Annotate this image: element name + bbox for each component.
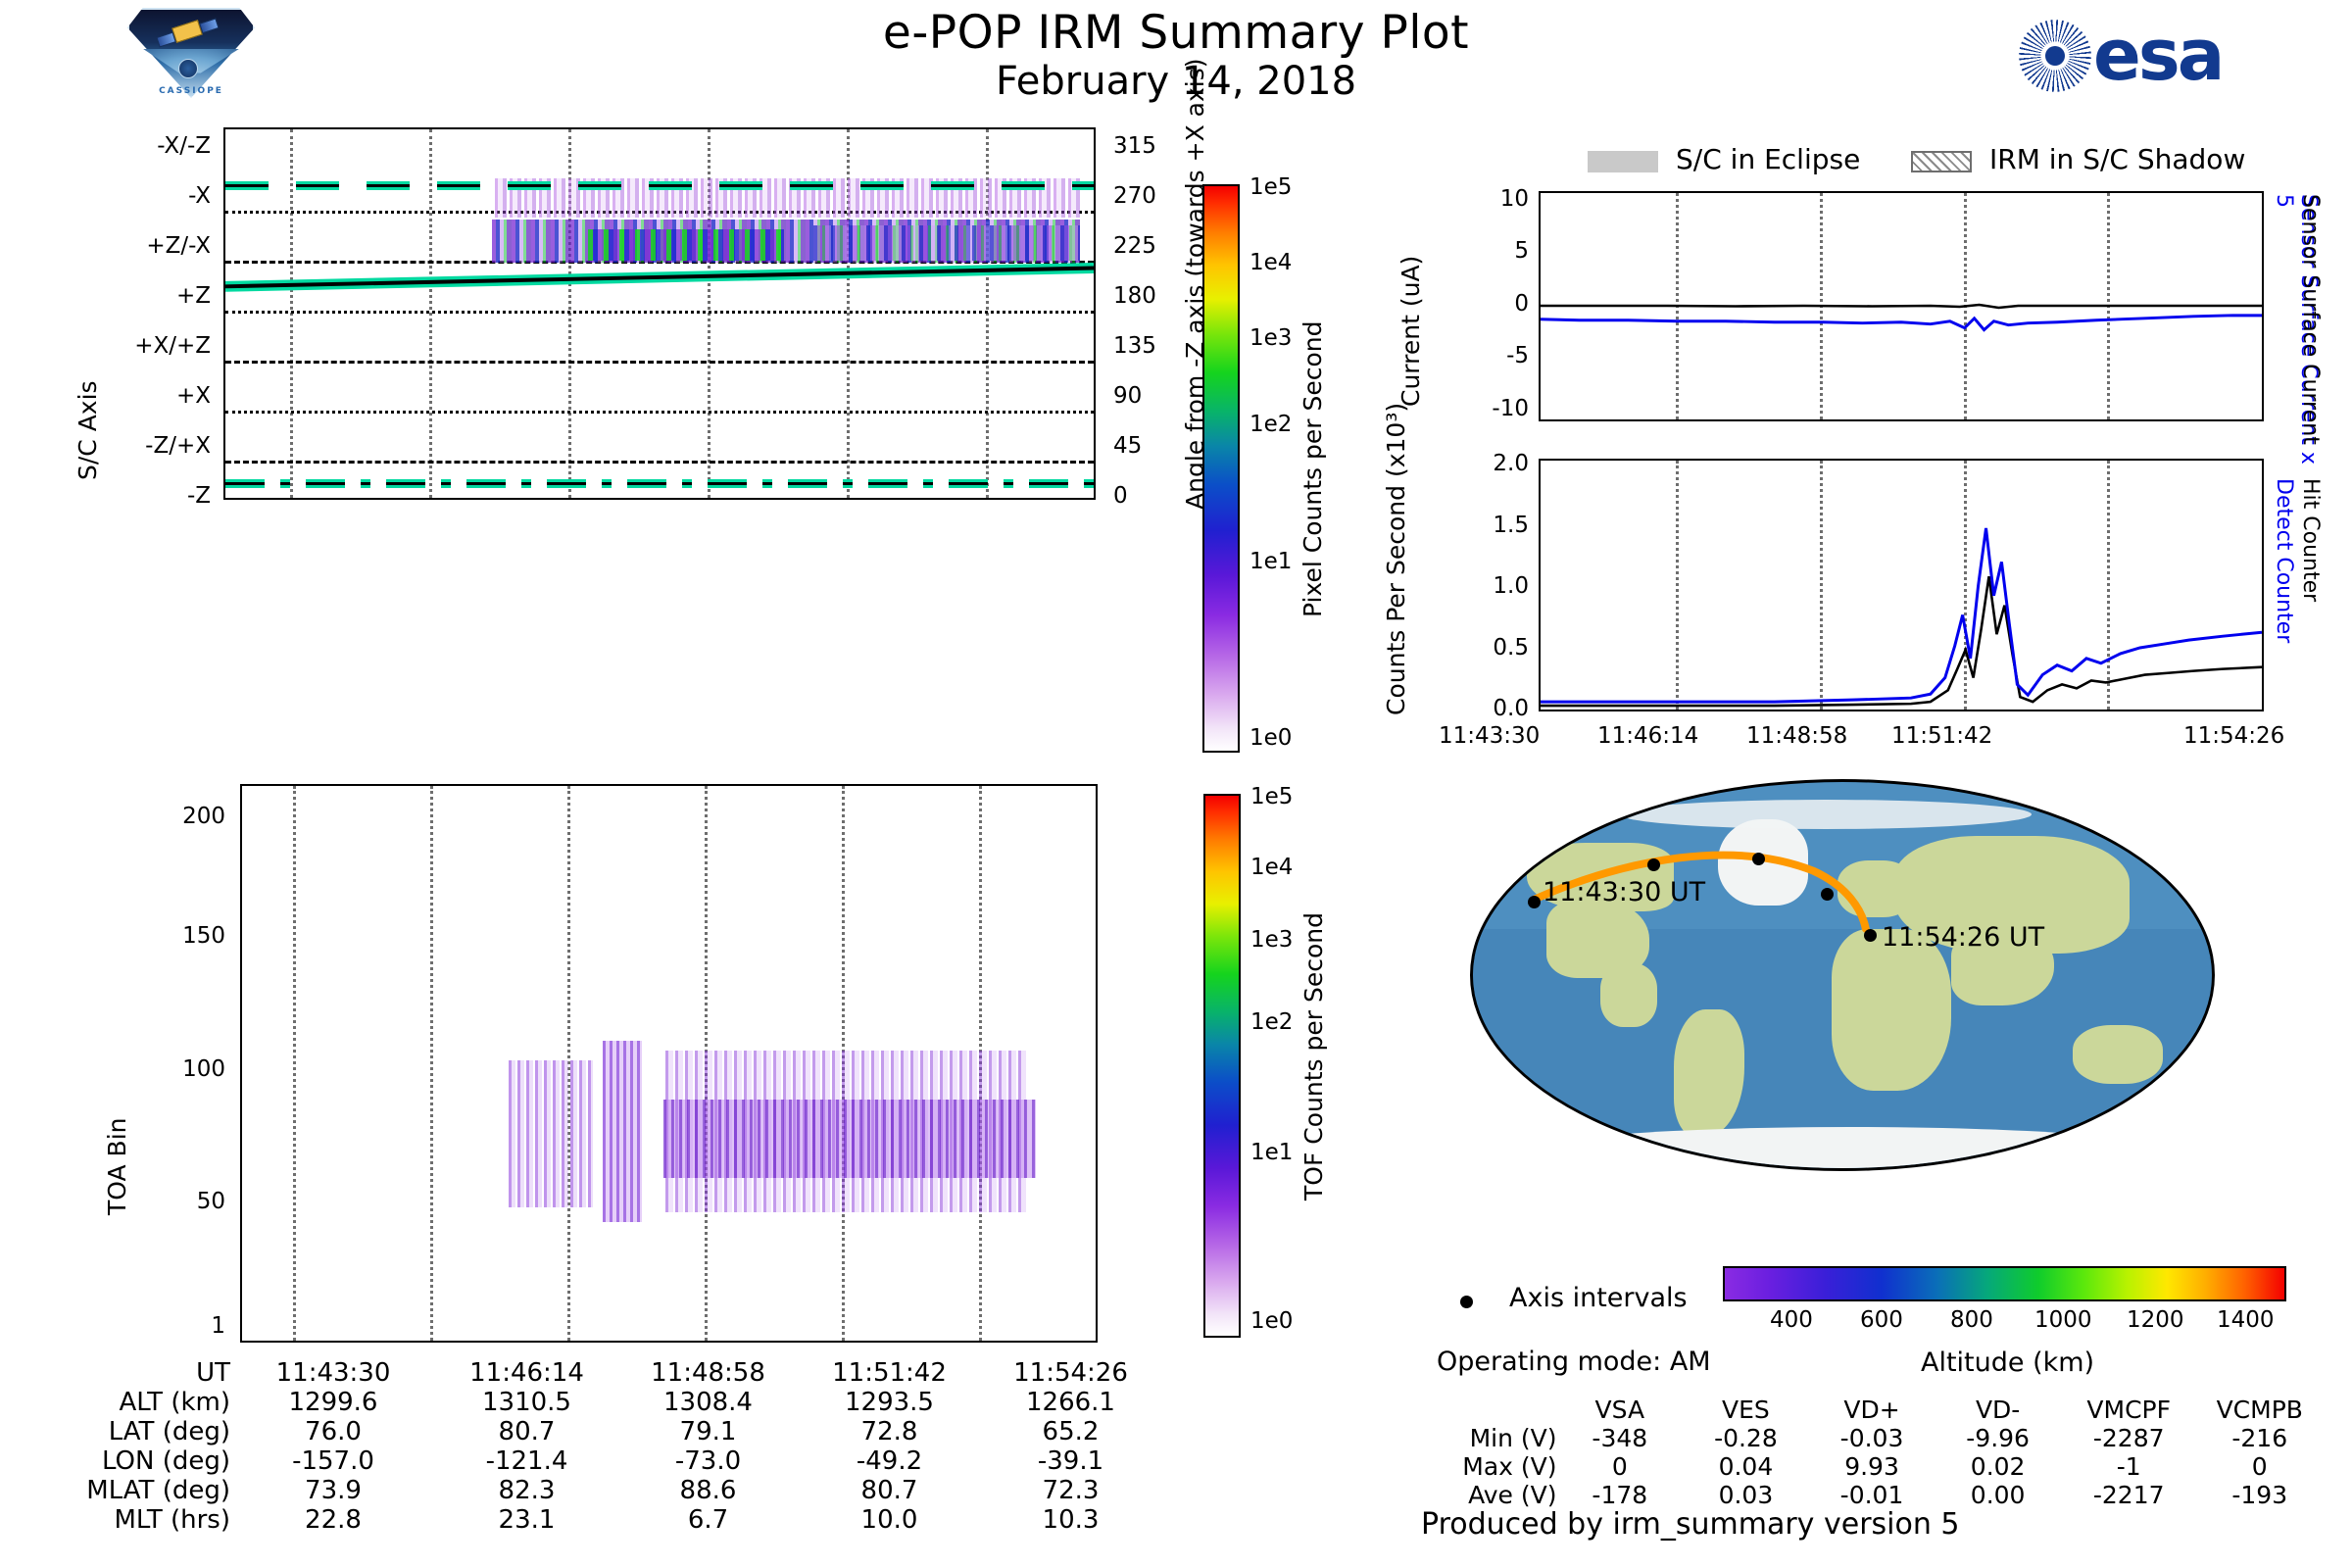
eph-cell-2-0: 76.0 xyxy=(230,1417,436,1446)
world-map[interactable] xyxy=(1470,779,2215,1171)
counts-xtick-1: 11:46:14 xyxy=(1597,723,1698,749)
altitude-colorbar xyxy=(1723,1266,2286,1301)
shadow-hatch-swatch-icon xyxy=(1911,151,1972,172)
volt-cell-2-1: 0.03 xyxy=(1683,1481,1809,1509)
pixel-cbar-tick-0: 1e5 xyxy=(1249,174,1292,200)
eph-cell-3-4: -39.1 xyxy=(980,1446,1161,1476)
footer-text: Produced by irm_summary version 5 xyxy=(1421,1507,1959,1542)
counts-xtick-3: 11:51:42 xyxy=(1891,723,1992,749)
page-title: e-POP IRM Summary Plot xyxy=(0,6,2352,60)
track-marker-start xyxy=(1528,896,1541,908)
current-ylabel: Current (uA) xyxy=(1396,211,1425,407)
counts-series-lines xyxy=(1541,461,2262,710)
current-plot[interactable] xyxy=(1539,191,2264,421)
table-row: MLAT (deg) 73.9 82.3 88.6 80.7 72.3 xyxy=(59,1476,1166,1505)
volt-rowlabel-0: Min (V) xyxy=(1421,1424,1557,1452)
table-row: LON (deg) -157.0 -121.4 -73.0 -49.2 -39.… xyxy=(59,1446,1166,1476)
sc-axis-right-tick-2: 225 xyxy=(1113,233,1156,259)
table-row: Ave (V) -178 0.03 -0.01 0.00 -2217 -193 xyxy=(1421,1481,2323,1509)
eph-rowlabel-0: UT xyxy=(59,1358,230,1388)
tof-cbar-tick-1: 1e4 xyxy=(1250,855,1293,880)
legend-label-irm-shadow: IRM in S/C Shadow xyxy=(1989,143,2245,175)
eph-cell-3-0: -157.0 xyxy=(230,1446,436,1476)
eph-cell-5-3: 10.0 xyxy=(799,1505,980,1535)
sc-axis-plot[interactable] xyxy=(223,127,1096,500)
counts-right-label-black: Hit Counter xyxy=(2298,478,2323,664)
toa-ytick-2: 100 xyxy=(147,1056,225,1082)
pixel-counts-colorbar xyxy=(1202,184,1240,753)
volt-cell-2-2: -0.01 xyxy=(1809,1481,1935,1509)
eph-cell-5-4: 10.3 xyxy=(980,1505,1161,1535)
toa-ytick-4: 1 xyxy=(147,1313,225,1339)
eph-cell-2-3: 72.8 xyxy=(799,1417,980,1446)
pixel-cbar-tick-1: 1e4 xyxy=(1249,250,1292,275)
voltage-table: VSA VES VD+ VD- VMCPF VCMPB Min (V) -348… xyxy=(1421,1396,2323,1509)
counts-ytick-3: 0.5 xyxy=(1441,635,1529,661)
counts-plot[interactable] xyxy=(1539,459,2264,711)
volt-cell-0-2: -0.03 xyxy=(1809,1424,1935,1452)
eph-cell-0-1: 11:46:14 xyxy=(436,1358,617,1388)
tof-counts-colorbar-label: TOF Counts per Second xyxy=(1299,916,1328,1200)
alt-cbar-tick-3: 1000 xyxy=(2034,1307,2092,1333)
volt-rowlabel-2: Ave (V) xyxy=(1421,1481,1557,1509)
eph-cell-4-3: 80.7 xyxy=(799,1476,980,1505)
toa-heatmap-cluster-a xyxy=(507,1060,593,1207)
toa-ytick-1: 150 xyxy=(147,923,225,949)
sc-axis-right-tick-7: 0 xyxy=(1113,483,1128,509)
track-start-label: 11:43:30 UT xyxy=(1543,877,1705,907)
toa-heatmap-core xyxy=(663,1100,1036,1178)
toa-bin-plot[interactable] xyxy=(240,784,1098,1343)
volt-cell-1-0: 0 xyxy=(1557,1452,1684,1481)
eph-rowlabel-2: LAT (deg) xyxy=(59,1417,230,1446)
ephemeris-table: UT 11:43:30 11:46:14 11:48:58 11:51:42 1… xyxy=(59,1358,1166,1535)
eph-cell-1-0: 1299.6 xyxy=(230,1388,436,1417)
volt-cell-1-3: 0.02 xyxy=(1935,1452,2061,1481)
legend-label-sc-eclipse: S/C in Eclipse xyxy=(1676,143,1860,175)
sc-axis-ytick-6: -Z/+X xyxy=(93,433,211,459)
volt-col-1: VES xyxy=(1683,1396,1809,1424)
sc-axis-ytick-4: +X/+Z xyxy=(93,333,211,359)
world-map-panel[interactable]: 11:43:30 UT 11:54:26 UT xyxy=(1470,779,2215,1171)
volt-cell-2-4: -2217 xyxy=(2061,1481,2197,1509)
counts-right-label-blue: Detect Counter xyxy=(2272,478,2296,694)
counts-ytick-4: 0.0 xyxy=(1441,696,1529,721)
axis-interval-marker-icon xyxy=(1460,1296,1473,1308)
table-row: ALT (km) 1299.6 1310.5 1308.4 1293.5 126… xyxy=(59,1388,1166,1417)
volt-cell-1-5: 0 xyxy=(2196,1452,2323,1481)
eph-cell-1-3: 1293.5 xyxy=(799,1388,980,1417)
volt-cell-2-0: -178 xyxy=(1557,1481,1684,1509)
volt-cell-0-3: -9.96 xyxy=(1935,1424,2061,1452)
eclipse-swatch-icon xyxy=(1588,151,1658,172)
mission-patch-label: CASSIOPE xyxy=(127,86,255,96)
eph-cell-2-1: 80.7 xyxy=(436,1417,617,1446)
sc-axis-right-tick-5: 90 xyxy=(1113,383,1142,409)
volt-cell-2-3: 0.00 xyxy=(1935,1481,2061,1509)
table-row: Max (V) 0 0.04 9.93 0.02 -1 0 xyxy=(1421,1452,2323,1481)
track-marker-1 xyxy=(1647,858,1660,871)
esa-logo: esa xyxy=(2019,14,2293,96)
eph-rowlabel-5: MLT (hrs) xyxy=(59,1505,230,1535)
eph-cell-1-4: 1266.1 xyxy=(980,1388,1161,1417)
eph-cell-2-2: 79.1 xyxy=(617,1417,799,1446)
alt-cbar-tick-2: 800 xyxy=(1950,1307,1993,1333)
volt-col-5: VCMPB xyxy=(2196,1396,2323,1424)
altitude-colorbar-label: Altitude (km) xyxy=(1921,1347,2094,1378)
toa-ytick-0: 200 xyxy=(147,804,225,829)
current-ytick-4: -10 xyxy=(1450,396,1529,421)
sc-axis-right-tick-3: 180 xyxy=(1113,283,1156,309)
sc-axis-ytick-3: +Z xyxy=(93,283,211,309)
alt-cbar-tick-4: 1200 xyxy=(2127,1307,2184,1333)
eph-cell-4-0: 73.9 xyxy=(230,1476,436,1505)
toa-heatmap-cluster-b xyxy=(603,1041,642,1222)
operating-mode-label: Operating mode: AM xyxy=(1437,1347,1711,1377)
eph-cell-4-1: 82.3 xyxy=(436,1476,617,1505)
tof-cbar-tick-4: 1e1 xyxy=(1250,1140,1293,1165)
sc-axis-ytick-7: -Z xyxy=(93,483,211,509)
sc-axis-right-tick-6: 45 xyxy=(1113,433,1142,459)
table-header-row: VSA VES VD+ VD- VMCPF VCMPB xyxy=(1421,1396,2323,1424)
eph-cell-4-4: 72.3 xyxy=(980,1476,1161,1505)
volt-col-2: VD+ xyxy=(1809,1396,1935,1424)
eph-rowlabel-1: ALT (km) xyxy=(59,1388,230,1417)
pixel-cbar-tick-5: 1e0 xyxy=(1249,725,1292,751)
page-subtitle-date: February 14, 2018 xyxy=(0,59,2352,104)
tof-cbar-tick-0: 1e5 xyxy=(1250,784,1293,809)
pixel-counts-colorbar-label: Pixel Counts per Second xyxy=(1298,323,1327,617)
esa-dot-icon xyxy=(2045,46,2065,66)
eph-cell-3-2: -73.0 xyxy=(617,1446,799,1476)
sc-axis-right-tick-0: 315 xyxy=(1113,133,1156,159)
current-right-label-black: Sensor Surface Current xyxy=(2298,194,2323,478)
counts-ytick-0: 2.0 xyxy=(1441,451,1529,476)
volt-col-0: VSA xyxy=(1557,1396,1684,1424)
tof-cbar-tick-3: 1e2 xyxy=(1250,1009,1293,1035)
alt-cbar-tick-1: 600 xyxy=(1860,1307,1903,1333)
sc-axis-ytick-2: +Z/-X xyxy=(93,233,211,259)
current-ytick-2: 0 xyxy=(1462,291,1529,317)
eph-cell-3-3: -49.2 xyxy=(799,1446,980,1476)
current-ytick-1: 5 xyxy=(1462,238,1529,264)
tof-cbar-tick-5: 1e0 xyxy=(1250,1308,1293,1334)
pixel-cbar-tick-3: 1e2 xyxy=(1249,412,1292,437)
pixel-cbar-tick-2: 1e3 xyxy=(1249,325,1292,351)
eph-cell-2-4: 65.2 xyxy=(980,1417,1161,1446)
table-row: Min (V) -348 -0.28 -0.03 -9.96 -2287 -21… xyxy=(1421,1424,2323,1452)
volt-cell-0-0: -348 xyxy=(1557,1424,1684,1452)
tof-counts-colorbar xyxy=(1203,794,1241,1338)
volt-cell-0-5: -216 xyxy=(2196,1424,2323,1452)
table-row: MLT (hrs) 22.8 23.1 6.7 10.0 10.3 xyxy=(59,1505,1166,1535)
volt-cell-1-1: 0.04 xyxy=(1683,1452,1809,1481)
current-series-lines xyxy=(1541,193,2262,419)
eph-cell-0-3: 11:51:42 xyxy=(799,1358,980,1388)
volt-col-4: VMCPF xyxy=(2061,1396,2197,1424)
volt-cell-2-5: -193 xyxy=(2196,1481,2323,1509)
sc-axis-ytick-1: -X xyxy=(93,183,211,209)
bfield-overlay-line xyxy=(225,129,1094,498)
eph-cell-1-1: 1310.5 xyxy=(436,1388,617,1417)
axis-intervals-legend-label: Axis intervals xyxy=(1509,1283,1688,1313)
tof-cbar-tick-2: 1e3 xyxy=(1250,927,1293,953)
volt-rowlabel-1: Max (V) xyxy=(1421,1452,1557,1481)
alt-cbar-tick-5: 1400 xyxy=(2217,1307,2275,1333)
sc-axis-right-tick-4: 135 xyxy=(1113,333,1156,359)
orbit-track xyxy=(1473,782,2212,1168)
volt-cell-0-4: -2287 xyxy=(2061,1424,2197,1452)
current-ytick-0: 10 xyxy=(1462,186,1529,212)
eph-cell-5-2: 6.7 xyxy=(617,1505,799,1535)
eph-rowlabel-3: LON (deg) xyxy=(59,1446,230,1476)
counts-xtick-2: 11:48:58 xyxy=(1746,723,1847,749)
counts-ylabel: Counts Per Second (x10³) xyxy=(1382,490,1411,715)
volt-cell-0-1: -0.28 xyxy=(1683,1424,1809,1452)
volt-cell-1-4: -1 xyxy=(2061,1452,2197,1481)
alt-cbar-tick-0: 400 xyxy=(1770,1307,1813,1333)
eph-cell-0-2: 11:48:58 xyxy=(617,1358,799,1388)
counts-xtick-4: 11:54:26 xyxy=(2183,723,2284,749)
eph-cell-0-0: 11:43:30 xyxy=(230,1358,436,1388)
current-ytick-3: -5 xyxy=(1456,343,1529,368)
toa-ytick-3: 50 xyxy=(147,1189,225,1214)
cassiope-mission-patch-icon: CASSIOPE xyxy=(127,8,255,98)
track-end-label: 11:54:26 UT xyxy=(1882,922,2044,953)
eph-cell-3-1: -121.4 xyxy=(436,1446,617,1476)
eph-cell-5-0: 22.8 xyxy=(230,1505,436,1535)
table-row: UT 11:43:30 11:46:14 11:48:58 11:51:42 1… xyxy=(59,1358,1166,1388)
eph-cell-1-2: 1308.4 xyxy=(617,1388,799,1417)
table-row: LAT (deg) 76.0 80.7 79.1 72.8 65.2 xyxy=(59,1417,1166,1446)
eph-rowlabel-4: MLAT (deg) xyxy=(59,1476,230,1505)
track-marker-2 xyxy=(1752,853,1765,865)
sc-axis-right-tick-1: 270 xyxy=(1113,183,1156,209)
sc-axis-ytick-0: -X/-Z xyxy=(93,133,211,159)
esa-logo-text: esa xyxy=(2093,20,2222,90)
counts-xtick-0: 11:43:30 xyxy=(1439,723,1540,749)
track-marker-end xyxy=(1864,929,1877,942)
sc-axis-ytick-5: +X xyxy=(93,383,211,409)
eph-cell-4-2: 88.6 xyxy=(617,1476,799,1505)
toa-bin-ylabel: TOA Bin xyxy=(103,1039,131,1215)
volt-cell-1-2: 9.93 xyxy=(1809,1452,1935,1481)
counts-ytick-1: 1.5 xyxy=(1441,513,1529,538)
volt-col-3: VD- xyxy=(1935,1396,2061,1424)
eph-cell-0-4: 11:54:26 xyxy=(980,1358,1161,1388)
eph-cell-5-1: 23.1 xyxy=(436,1505,617,1535)
pixel-cbar-tick-4: 1e1 xyxy=(1249,549,1292,574)
track-marker-3 xyxy=(1821,888,1834,901)
counts-ytick-2: 1.0 xyxy=(1441,573,1529,599)
